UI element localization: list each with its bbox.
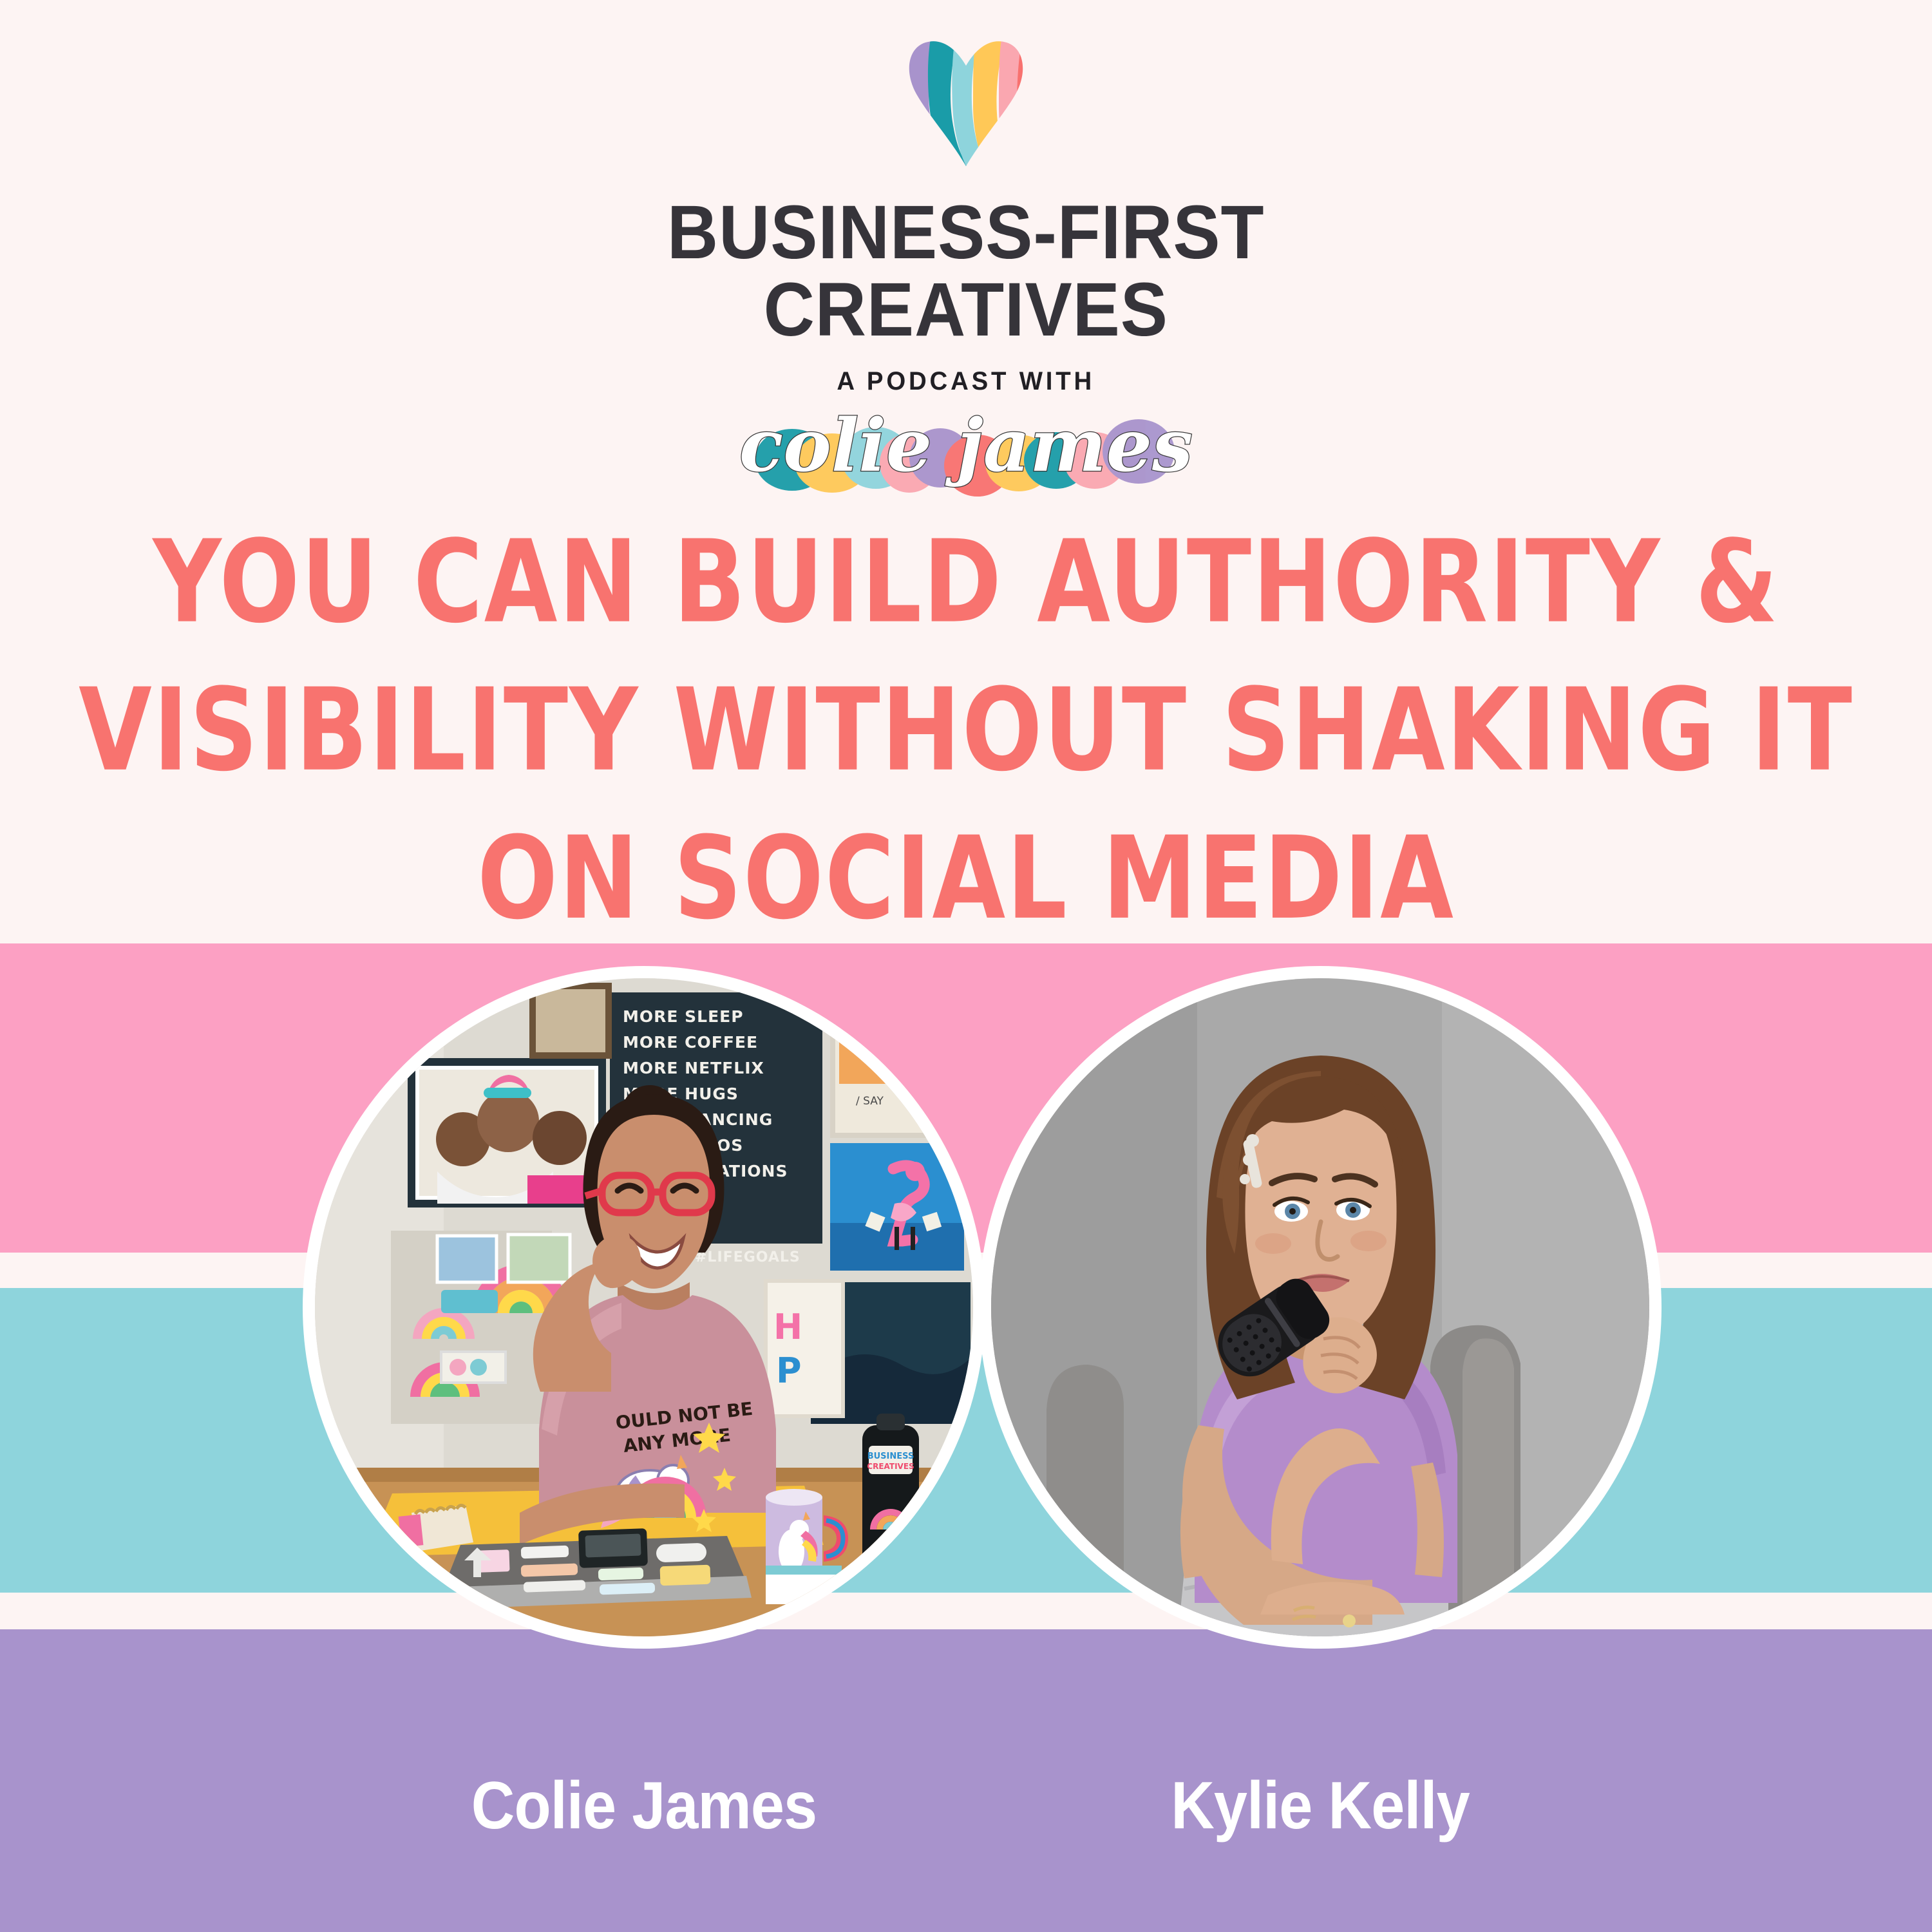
colie-james-photo: MORE SLEEP MORE COFFEE MORE NETFLIX MORE… bbox=[315, 978, 973, 1636]
rainbow-heart-icon bbox=[892, 37, 1040, 169]
headline-line-2: VISIBILITY WITHOUT SHAKING IT bbox=[19, 657, 1913, 805]
svg-text:BUSINESS: BUSINESS bbox=[867, 1452, 914, 1461]
svg-text:MORE NETFLIX: MORE NETFLIX bbox=[623, 1059, 764, 1077]
podcast-with-label: A PODCAST WITH bbox=[837, 367, 1095, 396]
headline-line-1: YOU CAN BUILD AUTHORITY & bbox=[19, 509, 1913, 657]
svg-text:H: H bbox=[773, 1307, 802, 1347]
guest-photo-colie-james: MORE SLEEP MORE COFFEE MORE NETFLIX MORE… bbox=[303, 966, 985, 1649]
guest-photo-kylie-kelly bbox=[979, 966, 1662, 1649]
svg-text:MORE COFFEE: MORE COFFEE bbox=[623, 1033, 758, 1052]
svg-text:CREATIVES: CREATIVES bbox=[867, 1462, 914, 1471]
podcast-cover-art: BUSINESS-FIRST CREATIVES A PODCAST WITH bbox=[0, 0, 1932, 1932]
kylie-kelly-photo bbox=[991, 978, 1649, 1636]
title-line-1: BUSINESS-FIRST bbox=[667, 190, 1265, 275]
svg-text:/ SAY: / SAY bbox=[856, 1095, 884, 1108]
guest-name-kylie-kelly: Kylie Kelly bbox=[1001, 1768, 1639, 1844]
colie-james-script-logo: colie james bbox=[721, 399, 1211, 502]
color-band-purple bbox=[0, 1629, 1932, 1932]
title-line-2: CREATIVES bbox=[667, 271, 1265, 348]
svg-text:MORE SLEEP: MORE SLEEP bbox=[623, 1007, 744, 1026]
headline-line-3: ON SOCIAL MEDIA bbox=[19, 805, 1913, 953]
guest-name-colie-james: Colie James bbox=[325, 1768, 963, 1844]
svg-text:P: P bbox=[776, 1350, 802, 1391]
host-wordmark: colie james bbox=[721, 399, 1211, 502]
episode-headline: YOU CAN BUILD AUTHORITY & VISIBILITY WIT… bbox=[19, 509, 1913, 953]
page-title: BUSINESS-FIRST CREATIVES bbox=[667, 194, 1265, 349]
svg-text:#LIFEGOALS: #LIFEGOALS bbox=[695, 1249, 800, 1265]
colie-james-text: colie james bbox=[739, 404, 1193, 488]
